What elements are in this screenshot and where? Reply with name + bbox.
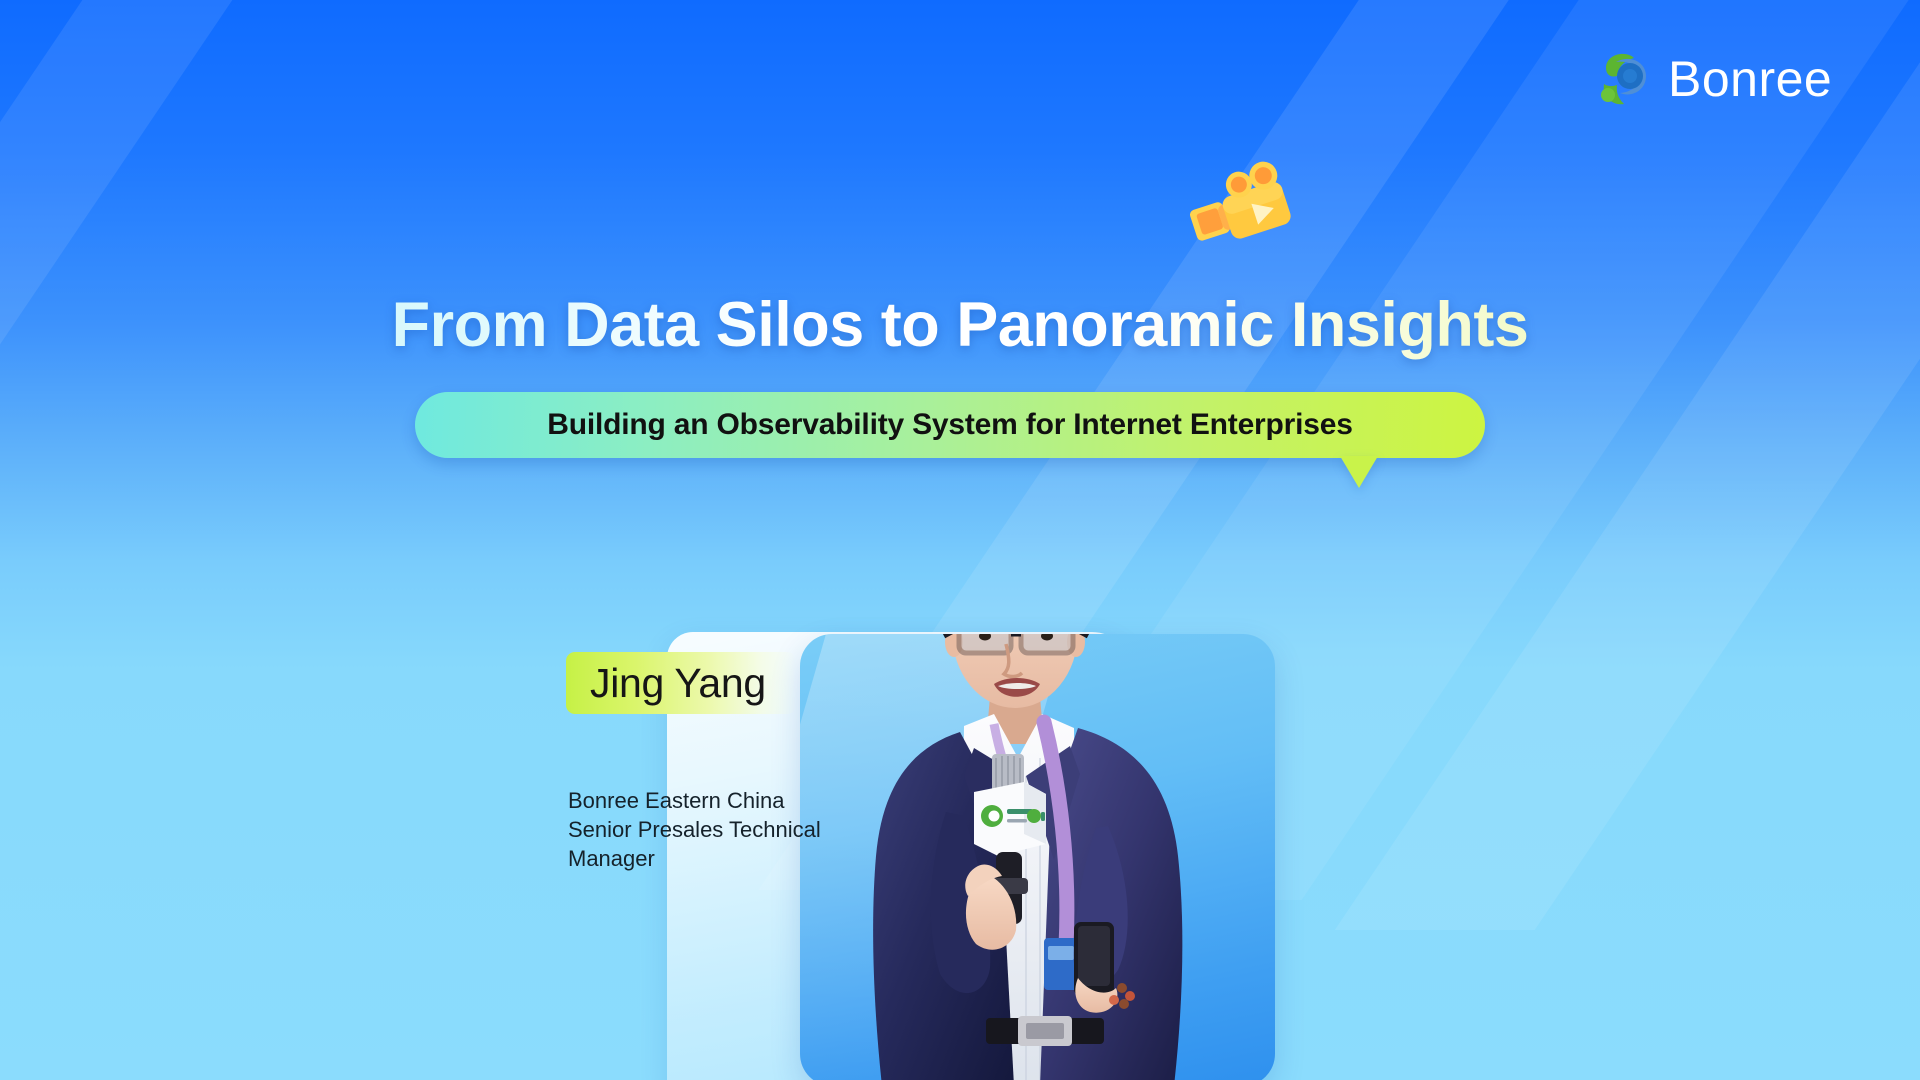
subtitle-text: Building an Observability System for Int…	[547, 408, 1352, 442]
movie-camera-icon	[1175, 152, 1315, 269]
bonree-mic-logo-icon	[974, 782, 1046, 856]
brand-logo: Bonree	[1596, 48, 1832, 110]
presentation-slide: Bonree From Data Silos to Panoramic Insi…	[0, 0, 1920, 1080]
speaker-role: Bonree Eastern China Senior Presales Tec…	[568, 786, 868, 873]
diagonal-light-streak	[1335, 0, 1920, 930]
bonree-logo-icon	[1596, 48, 1654, 110]
speaker-name: Jing Yang	[590, 655, 890, 711]
page-title: From Data Silos to Panoramic Insights	[0, 288, 1920, 362]
subtitle-banner: Building an Observability System for Int…	[415, 392, 1485, 458]
subtitle-banner-body: Building an Observability System for Int…	[415, 392, 1485, 458]
brand-name: Bonree	[1668, 54, 1832, 104]
speech-bubble-tail	[1340, 456, 1378, 488]
